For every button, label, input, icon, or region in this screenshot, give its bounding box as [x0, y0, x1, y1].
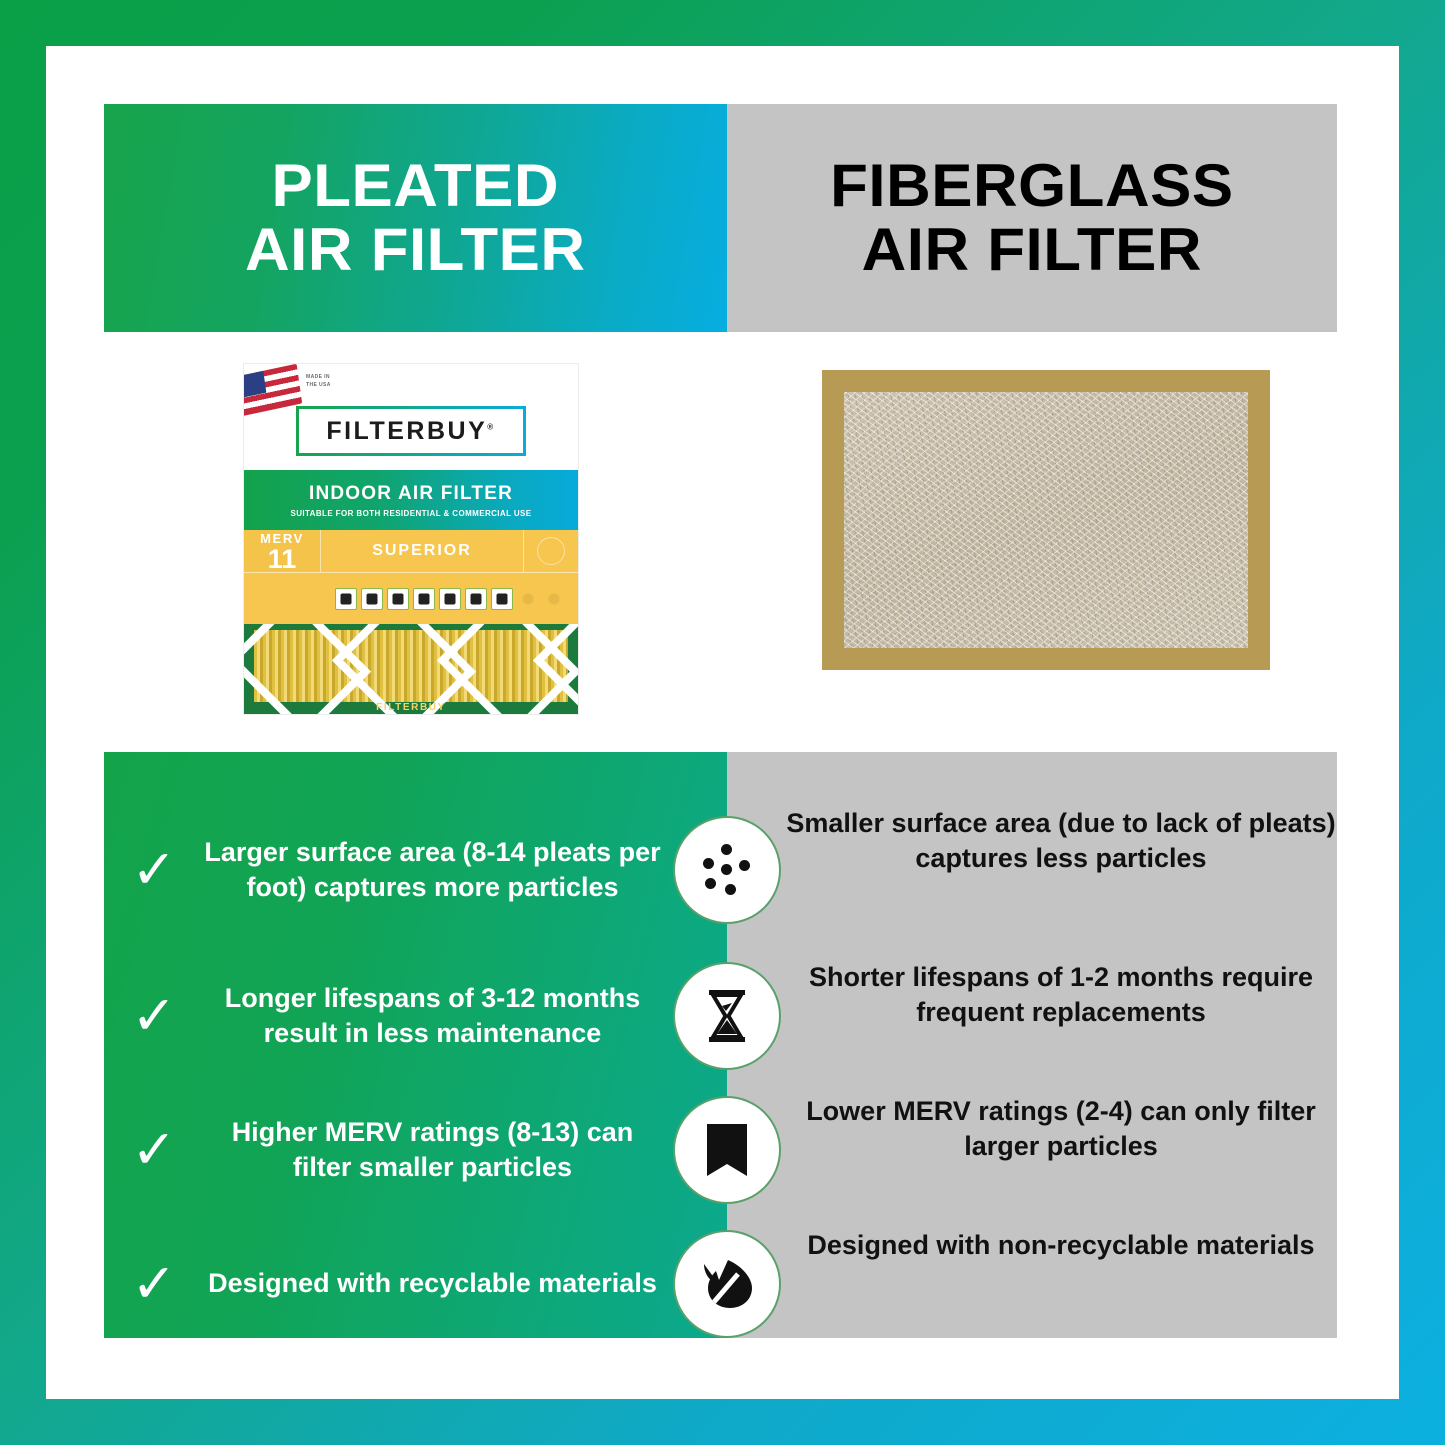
filterbuy-logo: FILTERBUY®	[296, 406, 526, 456]
comparison-row: ✓ Designed with recyclable materials Des…	[104, 1224, 1337, 1344]
dust-icon	[335, 588, 357, 610]
pleated-benefit-text: Higher MERV ratings (8-13) can filter sm…	[204, 1115, 727, 1185]
made-in-usa-label: MADE IN THE USA	[306, 374, 331, 389]
bacteria-icon	[413, 588, 435, 610]
fiberglass-drawback-text: Lower MERV ratings (2-4) can only filter…	[785, 1094, 1337, 1164]
headers-row: PLEATED AIR FILTER FIBERGLASS AIR FILTER	[104, 104, 1337, 332]
merv-value: 11	[268, 548, 297, 571]
merv-rating-cell: MERV 11	[244, 530, 321, 572]
fiberglass-media	[844, 392, 1248, 648]
pleated-filter-product-image: MADE IN THE USA FILTERBUY® INDOOR AIR FI…	[244, 364, 578, 714]
tier-label: SUPERIOR	[321, 530, 524, 572]
usa-flag-icon	[244, 364, 302, 416]
dustmite-icon	[361, 588, 383, 610]
header-pleated: PLEATED AIR FILTER	[104, 104, 727, 332]
fiberglass-drawback-text: Shorter lifespans of 1-2 months require …	[785, 960, 1337, 1030]
pleated-benefit-text: Designed with recyclable materials	[204, 1266, 727, 1301]
certification-seal-icon	[537, 537, 565, 565]
product-box-header: MADE IN THE USA FILTERBUY®	[244, 364, 578, 470]
product-box-bottom-brand: FILTERBUY	[244, 702, 578, 713]
header-pleated-line1: PLEATED	[245, 154, 585, 218]
band-title: INDOOR AIR FILTER	[309, 483, 513, 505]
bookmark-icon	[679, 1102, 775, 1198]
pet-dander-icon	[465, 588, 487, 610]
check-icon: ✓	[104, 989, 204, 1043]
product-images-row: MADE IN THE USA FILTERBUY® INDOOR AIR FI…	[104, 332, 1337, 752]
mold-icon	[387, 588, 409, 610]
header-fiberglass-line2: AIR FILTER	[830, 218, 1233, 282]
check-icon: ✓	[104, 1123, 204, 1177]
band-subtitle: SUITABLE FOR BOTH RESIDENTIAL & COMMERCI…	[290, 509, 531, 518]
header-fiberglass-line1: FIBERGLASS	[830, 154, 1233, 218]
product-box-band: INDOOR AIR FILTER SUITABLE FOR BOTH RESI…	[244, 470, 578, 530]
odor-icon-disabled	[543, 588, 565, 610]
pollen-icon	[439, 588, 461, 610]
fiberglass-drawback-text: Smaller surface area (due to lack of ple…	[785, 806, 1337, 876]
comparison-row: ✓ Longer lifespans of 3-12 months result…	[104, 956, 1337, 1076]
particles-icon	[679, 822, 775, 918]
comparison-row: ✓ Higher MERV ratings (8-13) can filter …	[104, 1090, 1337, 1210]
leaf-icon	[679, 1236, 775, 1332]
product-box-spec-area: MERV 11 SUPERIOR	[244, 530, 578, 624]
pleated-benefit-text: Larger surface area (8-14 pleats per foo…	[204, 835, 727, 905]
fiberglass-filter-product-image	[822, 370, 1270, 670]
check-icon: ✓	[104, 1257, 204, 1311]
check-icon: ✓	[104, 843, 204, 897]
header-fiberglass: FIBERGLASS AIR FILTER	[727, 104, 1337, 332]
hourglass-icon	[679, 968, 775, 1064]
pleated-benefit-text: Longer lifespans of 3-12 months result i…	[204, 981, 727, 1051]
virus-icon-disabled	[517, 588, 539, 610]
filtration-icon-row	[244, 573, 578, 625]
header-pleated-line2: AIR FILTER	[245, 218, 585, 282]
fiberglass-drawback-text: Designed with non-recyclable materials	[785, 1228, 1337, 1263]
comparison-row: ✓ Larger surface area (8-14 pleats per f…	[104, 800, 1337, 940]
smoke-icon	[491, 588, 513, 610]
certification-cell	[524, 530, 578, 572]
comparison-section: ✓ Larger surface area (8-14 pleats per f…	[104, 752, 1337, 1338]
pleated-media-illustration: FILTERBUY	[244, 624, 578, 714]
